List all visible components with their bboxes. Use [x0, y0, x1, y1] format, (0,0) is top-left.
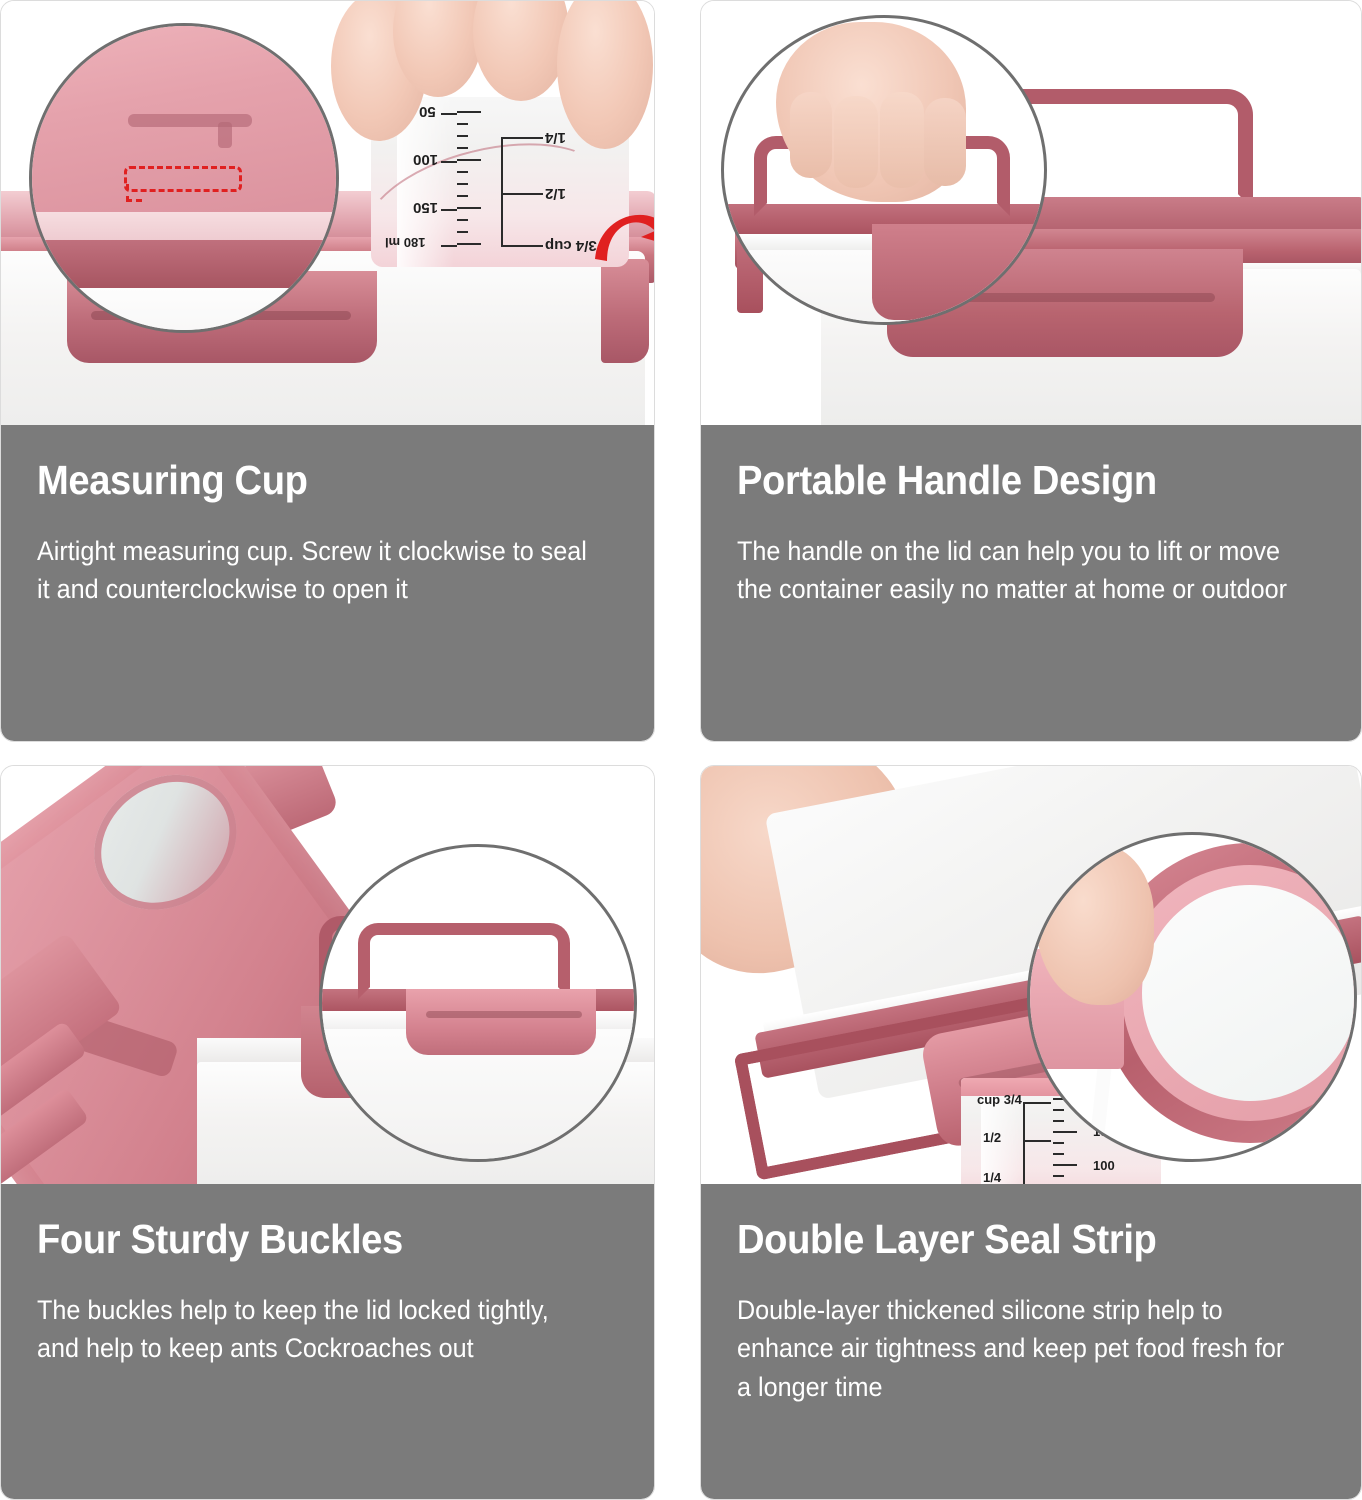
product-photo-four-buckles	[1, 766, 654, 1184]
product-photo-double-seal: cup 3/4 1/2 1/4 180 ml 150 100 50	[701, 766, 1361, 1184]
cup-label-quarter: 1/4	[983, 1170, 1001, 1184]
panel-body: Double-layer thickened silicone strip he…	[737, 1291, 1296, 1407]
cup-bracket-arm-bot	[501, 245, 543, 247]
cup-leader-180	[441, 245, 457, 247]
feature-panel-double-seal: cup 3/4 1/2 1/4 180 ml 150 100 50	[700, 765, 1362, 1500]
cup-label-half: 1/2	[545, 185, 566, 202]
panel-body: Airtight measuring cup. Screw it clockwi…	[37, 532, 589, 609]
panel-title: Portable Handle Design	[737, 459, 1284, 502]
cup-leader-50	[441, 113, 457, 115]
cup-label-ml-150: 150	[413, 199, 438, 216]
caption-measuring-cup: Measuring Cup Airtight measuring cup. Sc…	[1, 425, 654, 741]
feature-panel-four-buckles: Four Sturdy Buckles The buckles help to …	[0, 765, 655, 1500]
clockwise-rotation-arrow	[581, 187, 654, 283]
caption-four-buckles: Four Sturdy Buckles The buckles help to …	[1, 1184, 654, 1499]
cup-label-quarter: 1/4	[545, 129, 566, 146]
feature-panel-portable-handle: 50 100 150 180 ml	[700, 0, 1362, 742]
panel-body: The buckles help to keep the lid locked …	[37, 1291, 589, 1368]
product-photo-measuring-cup: 50 100 150 180 ml 1/4 1/2 3/4 cup	[1, 1, 654, 425]
cup-leader-150	[441, 209, 457, 211]
cup-bracket-arm-mid	[501, 193, 543, 195]
feature-grid: 50 100 150 180 ml 1/4 1/2 3/4 cup	[0, 0, 1362, 1500]
magnifier-handle-grip	[721, 15, 1047, 325]
cup-bracket-spine	[1023, 1102, 1025, 1184]
hand-middle-finger	[473, 1, 569, 101]
panel-title: Double Layer Seal Strip	[737, 1218, 1284, 1261]
cup-bracket-arm-mid	[1023, 1140, 1051, 1142]
cup-bracket-spine	[501, 137, 503, 247]
cup-label-ml-100: 100	[413, 151, 438, 168]
cup-label-ml-100: 100	[1093, 1158, 1115, 1173]
panel-body: The handle on the lid can help you to li…	[737, 532, 1296, 609]
thumb	[1036, 845, 1154, 1005]
cup-label-half: 1/2	[983, 1130, 1001, 1145]
cup-label-ml-50: 50	[419, 103, 436, 120]
magnifier-buckle-closeup	[319, 844, 637, 1162]
caption-double-seal: Double Layer Seal Strip Double-layer thi…	[701, 1184, 1361, 1499]
panel-title: Measuring Cup	[37, 459, 577, 502]
magnifier-lid-groove	[29, 23, 339, 333]
cup-bracket-arm-top	[501, 137, 543, 139]
cup-label-three-quarter: cup 3/4	[977, 1092, 1022, 1107]
cup-label-ml-180: 180 ml	[385, 235, 425, 250]
product-photo-portable-handle: 50 100 150 180 ml	[701, 1, 1361, 425]
cup-leader-100	[441, 161, 457, 163]
seal-ring-core	[1142, 885, 1357, 1101]
cup-bracket-arm-top	[1023, 1102, 1051, 1104]
magnifier-seal-strip	[1027, 832, 1357, 1162]
feature-panel-measuring-cup: 50 100 150 180 ml 1/4 1/2 3/4 cup	[0, 0, 655, 742]
panel-title: Four Sturdy Buckles	[37, 1218, 577, 1261]
caption-portable-handle: Portable Handle Design The handle on the…	[701, 425, 1361, 741]
